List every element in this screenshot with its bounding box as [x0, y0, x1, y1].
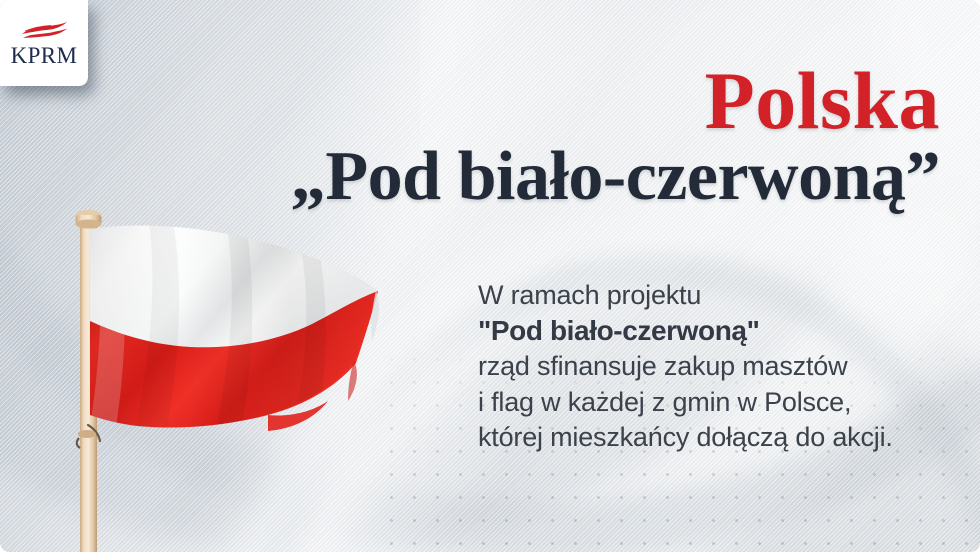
body-line-1: W ramach projektu — [478, 278, 928, 313]
polish-flag-illustration — [38, 195, 398, 552]
poster-canvas: KPRM — [0, 0, 980, 552]
body-copy: W ramach projektu "Pod biało-czerwoną" r… — [478, 278, 928, 455]
body-line-2: "Pod biało-czerwoną" — [478, 313, 928, 349]
kprm-wordmark: KPRM — [11, 44, 78, 67]
body-line-5: której mieszkańcy dołączą do akcji. — [478, 420, 928, 455]
polish-flag-ribbon-emblem — [18, 20, 70, 42]
kprm-logo: KPRM — [0, 0, 88, 86]
flag-svg — [38, 195, 398, 552]
headline-line-slogan: „Pod biało-czerwoną” — [0, 139, 940, 215]
body-line-4: i flag w każdej z gmin w Polsce, — [478, 385, 928, 420]
body-line-3: rząd sfinansuje zakup masztów — [478, 349, 928, 384]
headline-line-polska: Polska — [0, 62, 940, 141]
headline: Polska „Pod biało-czerwoną” — [0, 62, 980, 214]
